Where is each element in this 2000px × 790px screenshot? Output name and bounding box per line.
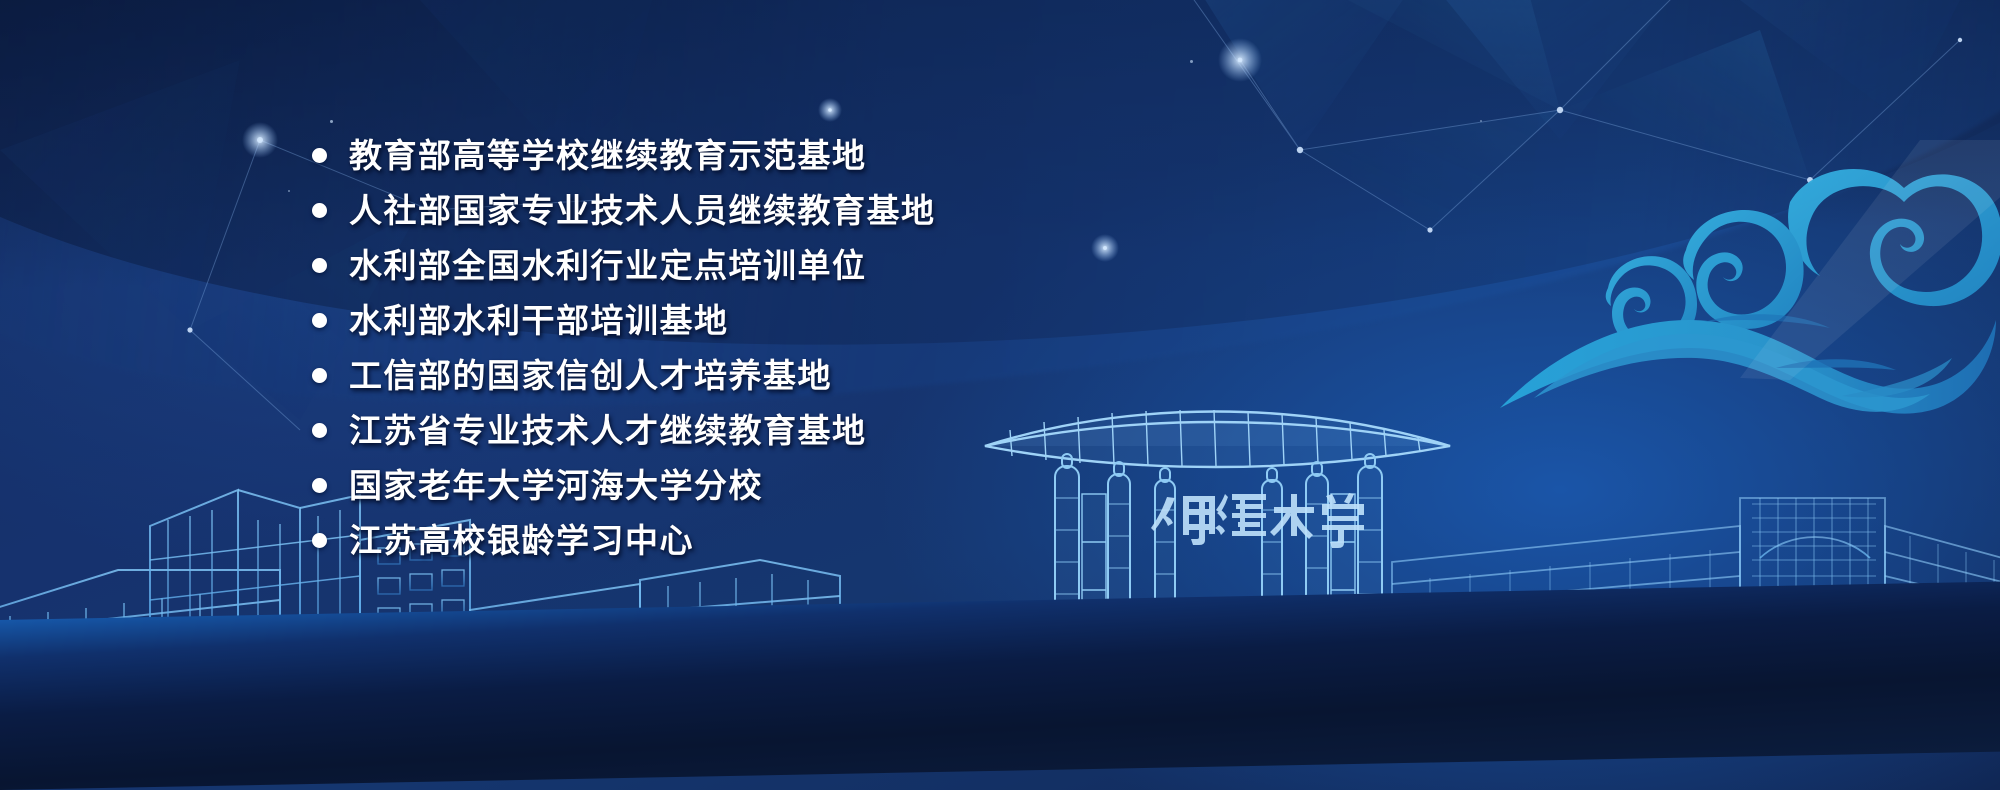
list-item: 水利部水利干部培训基地 [312, 293, 1312, 348]
list-item: 教育部高等学校继续教育示范基地 [312, 128, 1312, 183]
credentials-list: 教育部高等学校继续教育示范基地 人社部国家专业技术人员继续教育基地 水利部全国水… [312, 128, 1312, 568]
sparkle-dot [288, 190, 290, 192]
credential-label: 教育部高等学校继续教育示范基地 [349, 139, 867, 172]
list-item: 江苏省专业技术人才继续教育基地 [312, 403, 1312, 458]
list-item: 国家老年大学河海大学分校 [312, 458, 1312, 513]
dot-bullet-icon [312, 203, 327, 218]
dot-bullet-icon [312, 423, 327, 438]
list-item: 水利部全国水利行业定点培训单位 [312, 238, 1312, 293]
list-item: 工信部的国家信创人才培养基地 [312, 348, 1312, 403]
credential-label: 人社部国家专业技术人员继续教育基地 [349, 194, 936, 227]
dot-bullet-icon [312, 533, 327, 548]
sparkle-dot [1480, 120, 1482, 122]
dot-bullet-icon [312, 148, 327, 163]
credential-label: 水利部水利干部培训基地 [349, 304, 729, 337]
sparkle-dot [1190, 60, 1193, 63]
dot-bullet-icon [312, 313, 327, 328]
list-item: 江苏高校银龄学习中心 [312, 513, 1312, 568]
credential-label: 江苏省专业技术人才继续教育基地 [349, 414, 867, 447]
credential-label: 水利部全国水利行业定点培训单位 [349, 249, 867, 282]
dot-bullet-icon [312, 478, 327, 493]
credential-label: 江苏高校银龄学习中心 [349, 524, 694, 557]
dot-bullet-icon [312, 258, 327, 273]
dot-bullet-icon [312, 368, 327, 383]
sparkle-dot [330, 120, 333, 123]
hohai-banner: 教育部高等学校继续教育示范基地 人社部国家专业技术人员继续教育基地 水利部全国水… [0, 0, 2000, 790]
credential-label: 工信部的国家信创人才培养基地 [349, 359, 832, 392]
credential-label: 国家老年大学河海大学分校 [349, 469, 763, 502]
list-item: 人社部国家专业技术人员继续教育基地 [312, 183, 1312, 238]
